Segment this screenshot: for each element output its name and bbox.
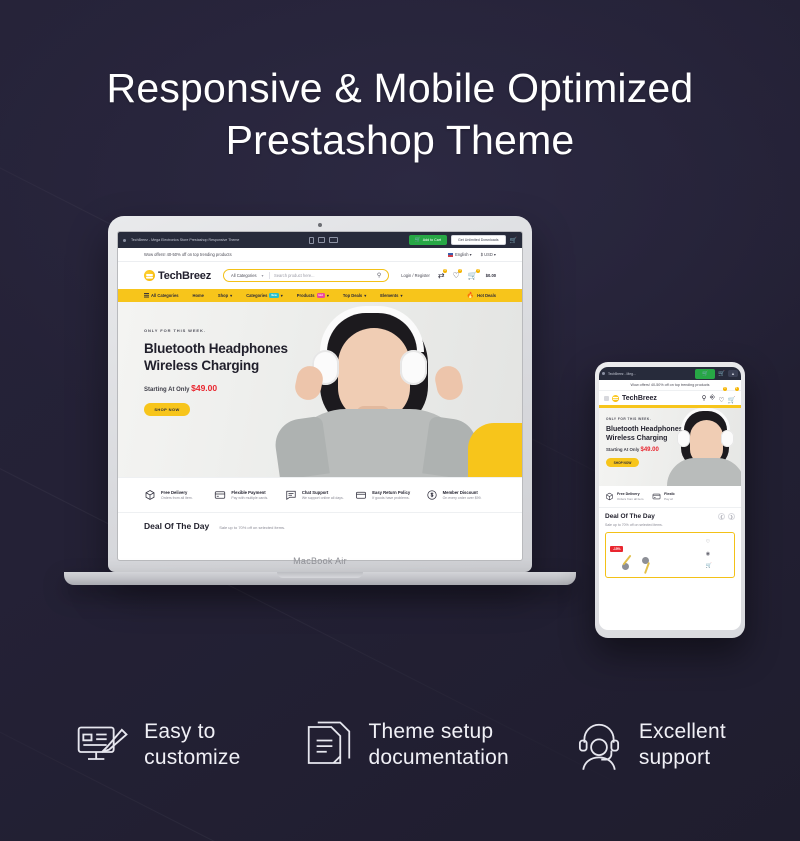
heart-icon[interactable]: ♡ (706, 539, 712, 545)
cart-icon: 🛒 (415, 238, 421, 243)
flame-icon: 🔥 (467, 292, 474, 299)
currency-selector[interactable]: $ USD ▾ (481, 252, 496, 257)
wishlist-count: 0 (723, 387, 727, 391)
dollar-coin-icon (426, 489, 438, 501)
headset-support-icon (573, 718, 625, 772)
chevron-right-icon[interactable]: ❯ (728, 513, 735, 520)
webcam-icon (318, 223, 322, 227)
badge-hot: Hot (317, 293, 325, 297)
tablet-preview-icon[interactable] (318, 237, 325, 243)
shop-now-button[interactable]: SHOP NOW (144, 403, 190, 416)
search-category-select[interactable]: All Categories (231, 273, 256, 278)
wishlist-count: 0 (458, 269, 462, 273)
browser-cart-icon[interactable]: 🛒 (510, 237, 517, 244)
feature-item: Member DiscountOn every order over $99. (426, 489, 496, 501)
bottom-feature-easy-customize: Easy to customize (74, 717, 240, 773)
return-box-icon (355, 489, 367, 501)
feature-item: Easy Return PolicyIf goods have problems… (355, 489, 425, 501)
eye-icon[interactable]: ◉ (706, 551, 712, 557)
chevron-down-icon: ▾ (262, 273, 264, 278)
phone-screen: TechBreez - Meg... 🛒 🛒 ▲ Wow offers! 40-… (599, 367, 741, 630)
brand-name: TechBreez (158, 270, 211, 282)
responsive-preview-toggles[interactable] (244, 237, 403, 244)
credit-card-icon (214, 489, 226, 501)
phone-shop-now-button[interactable]: SHOP NOW (606, 458, 639, 467)
cart-count: 0 (735, 387, 739, 391)
box-icon (144, 489, 156, 501)
chevron-left-icon[interactable]: ❮ (718, 513, 725, 520)
browser-tab-title[interactable]: TechBreez - Mega Electronics Store Prest… (131, 238, 239, 242)
get-unlimited-downloads-button[interactable]: Get Unlimited Downloads (451, 235, 506, 246)
badge-new: New (269, 293, 278, 297)
flag-icon (448, 253, 453, 257)
nav-hot-deals[interactable]: 🔥 Hot Deals (467, 292, 496, 299)
product-card[interactable]: -15% ♡ ◉ 🛒 (605, 532, 735, 578)
phone-add-to-cart-button[interactable]: 🛒 (695, 369, 715, 379)
deal-subtitle: Sale up to 70% off on selected items. (219, 525, 285, 530)
monitor-brush-icon (74, 717, 130, 773)
bottom-features: Easy to customize Theme setup documentat… (0, 700, 800, 790)
divider (269, 272, 270, 279)
cart-icon[interactable]: 🛒 (706, 563, 712, 569)
earbuds-image (620, 549, 666, 571)
chevron-down-icon: ▾ (281, 293, 283, 298)
cart-icon: 🛒 (728, 397, 736, 404)
hero-model-image (276, 302, 476, 477)
topbar-offer-text: Wow offers! 40-50% off on top trending p… (144, 252, 232, 257)
cart-total: $0.00 (486, 273, 496, 278)
phone-browser-tab-title[interactable]: TechBreez - Meg... (608, 372, 636, 376)
tab-favicon-icon (602, 372, 605, 375)
laptop-mockup: TechBreez - Mega Electronics Store Prest… (108, 216, 532, 585)
bottom-feature-label: Theme setup documentation (368, 719, 508, 770)
nav-item-top-deals[interactable]: Top Deals▾ (343, 293, 366, 298)
phone-hero-model-image (665, 408, 741, 486)
chevron-down-icon: ▾ (230, 293, 232, 298)
hero-accent-shape (468, 423, 522, 477)
phone-brand-name: TechBreez (622, 395, 657, 402)
cart-icon: 🛒 (702, 371, 708, 377)
login-register-link[interactable]: Login / Register (401, 273, 430, 278)
deal-of-the-day-section: Deal Of The Day Sale up to 70% off on se… (118, 513, 522, 543)
laptop-notch (277, 572, 363, 578)
cart-count: 0 (476, 269, 480, 273)
headline-line-1: Responsive & Mobile Optimized (107, 65, 694, 111)
phone-deal-section: Deal Of The Day ❮ ❯ Sale up to 70% off o… (599, 508, 741, 578)
poster-background: Responsive & Mobile Optimized Prestashop… (0, 0, 800, 841)
feature-item: FlexibPay wi (652, 492, 674, 502)
compare-count: 0 (443, 269, 447, 273)
phone-deal-subtitle: Sale up to 70% off on selected items. (605, 523, 735, 527)
add-to-cart-label: Add to Cart (423, 238, 441, 242)
phone-deal-title: Deal Of The Day (605, 513, 655, 520)
phone-mockup: TechBreez - Meg... 🛒 🛒 ▲ Wow offers! 40-… (595, 362, 745, 638)
heart-icon: ♡ (719, 397, 725, 404)
chat-icon (285, 489, 297, 501)
language-selector[interactable]: English ▾ (448, 252, 472, 257)
feature-item: Free DeliveryOrders from all item. (605, 492, 644, 502)
bottom-feature-support: Excellent support (573, 718, 726, 772)
credit-card-icon (652, 492, 661, 501)
compare-button[interactable]: ⇄ 0 (438, 271, 445, 280)
phone-features-strip: Free DeliveryOrders from all item. Flexi… (599, 486, 741, 508)
phone-cart-icon[interactable]: 🛒 (718, 371, 725, 377)
documents-icon (304, 718, 354, 772)
add-to-cart-button[interactable]: 🛒 Add to Cart (409, 235, 447, 245)
desktop-preview-icon[interactable] (329, 237, 338, 243)
grid-icon (144, 293, 149, 298)
laptop-base: MacBook Air (64, 572, 576, 585)
hero-banner: ONLY FOR THIS WEEK. Bluetooth Headphones… (118, 302, 522, 477)
chevron-down-icon: ▾ (364, 293, 366, 298)
box-icon (605, 492, 614, 501)
search-input[interactable]: Search product here... (274, 273, 372, 278)
features-strip: Free DeliveryOrders from all item. Flexi… (118, 477, 522, 513)
feature-item: Chat SupportWe support online all days. (285, 489, 355, 501)
headline-line-2: Prestashop Theme (0, 114, 800, 166)
burger-logo-icon (612, 395, 619, 402)
chevron-up-icon[interactable]: ▲ (728, 370, 738, 377)
phone-header: TechBreez ⚲ ⎆ ♡ 0 🛒 0 (599, 391, 741, 405)
chevron-down-icon: ▾ (400, 293, 402, 298)
bottom-feature-label: Excellent support (639, 719, 726, 770)
search-bar[interactable]: All Categories ▾ Search product here... … (223, 269, 389, 282)
phone-hero-banner: ONLY FOR THIS WEEK. Bluetooth Headphones… (599, 408, 741, 486)
site-logo[interactable]: TechBreez (144, 270, 211, 282)
phone-cart-button[interactable]: 🛒 0 (728, 389, 736, 407)
nav-item-categories[interactable]: Categories New ▾ (246, 293, 283, 298)
nav-item-products[interactable]: Products Hot ▾ (297, 293, 329, 298)
laptop-lid: TechBreez - Mega Electronics Store Prest… (108, 216, 532, 572)
macbook-label: MacBook Air (293, 556, 347, 566)
site-topbar: Wow offers! 40-50% off on top trending p… (118, 248, 522, 262)
bottom-feature-label: Easy to customize (144, 719, 240, 770)
browser-chrome: TechBreez - Mega Electronics Store Prest… (118, 232, 522, 248)
nav-item-home[interactable]: Home (193, 293, 204, 298)
hamburger-icon[interactable] (604, 396, 609, 401)
phone-wishlist-button[interactable]: ♡ 0 (719, 389, 725, 407)
wishlist-button[interactable]: ♡ 0 (453, 271, 460, 280)
mobile-preview-icon[interactable] (309, 237, 314, 244)
hero-price-value: $49.00 (191, 383, 217, 393)
main-nav: All Categories Home Shop▾ Categories New… (118, 289, 522, 302)
deal-title: Deal Of The Day (144, 521, 209, 531)
phone-browser-chrome: TechBreez - Meg... 🛒 🛒 ▲ (599, 367, 741, 380)
laptop-screen: TechBreez - Mega Electronics Store Prest… (117, 231, 523, 561)
user-icon[interactable]: ⎆ (710, 394, 715, 402)
nav-item-elements[interactable]: Elements▾ (380, 293, 402, 298)
burger-logo-icon (144, 270, 155, 281)
feature-item: Free DeliveryOrders from all item. (144, 489, 214, 501)
tab-favicon-icon (123, 239, 126, 242)
page-title: Responsive & Mobile Optimized Prestashop… (0, 62, 800, 166)
bottom-feature-documentation: Theme setup documentation (304, 718, 508, 772)
search-icon[interactable]: ⚲ (377, 272, 381, 279)
nav-item-shop[interactable]: Shop▾ (218, 293, 232, 298)
chevron-down-icon: ▾ (327, 293, 329, 298)
feature-item: Flexible PaymentPay with multiple cards. (214, 489, 284, 501)
cart-button[interactable]: 🛒 0 (468, 271, 478, 280)
search-icon[interactable]: ⚲ (702, 394, 707, 402)
site-header: TechBreez All Categories ▾ Search produc… (118, 262, 522, 289)
nav-all-categories[interactable]: All Categories (144, 293, 179, 298)
